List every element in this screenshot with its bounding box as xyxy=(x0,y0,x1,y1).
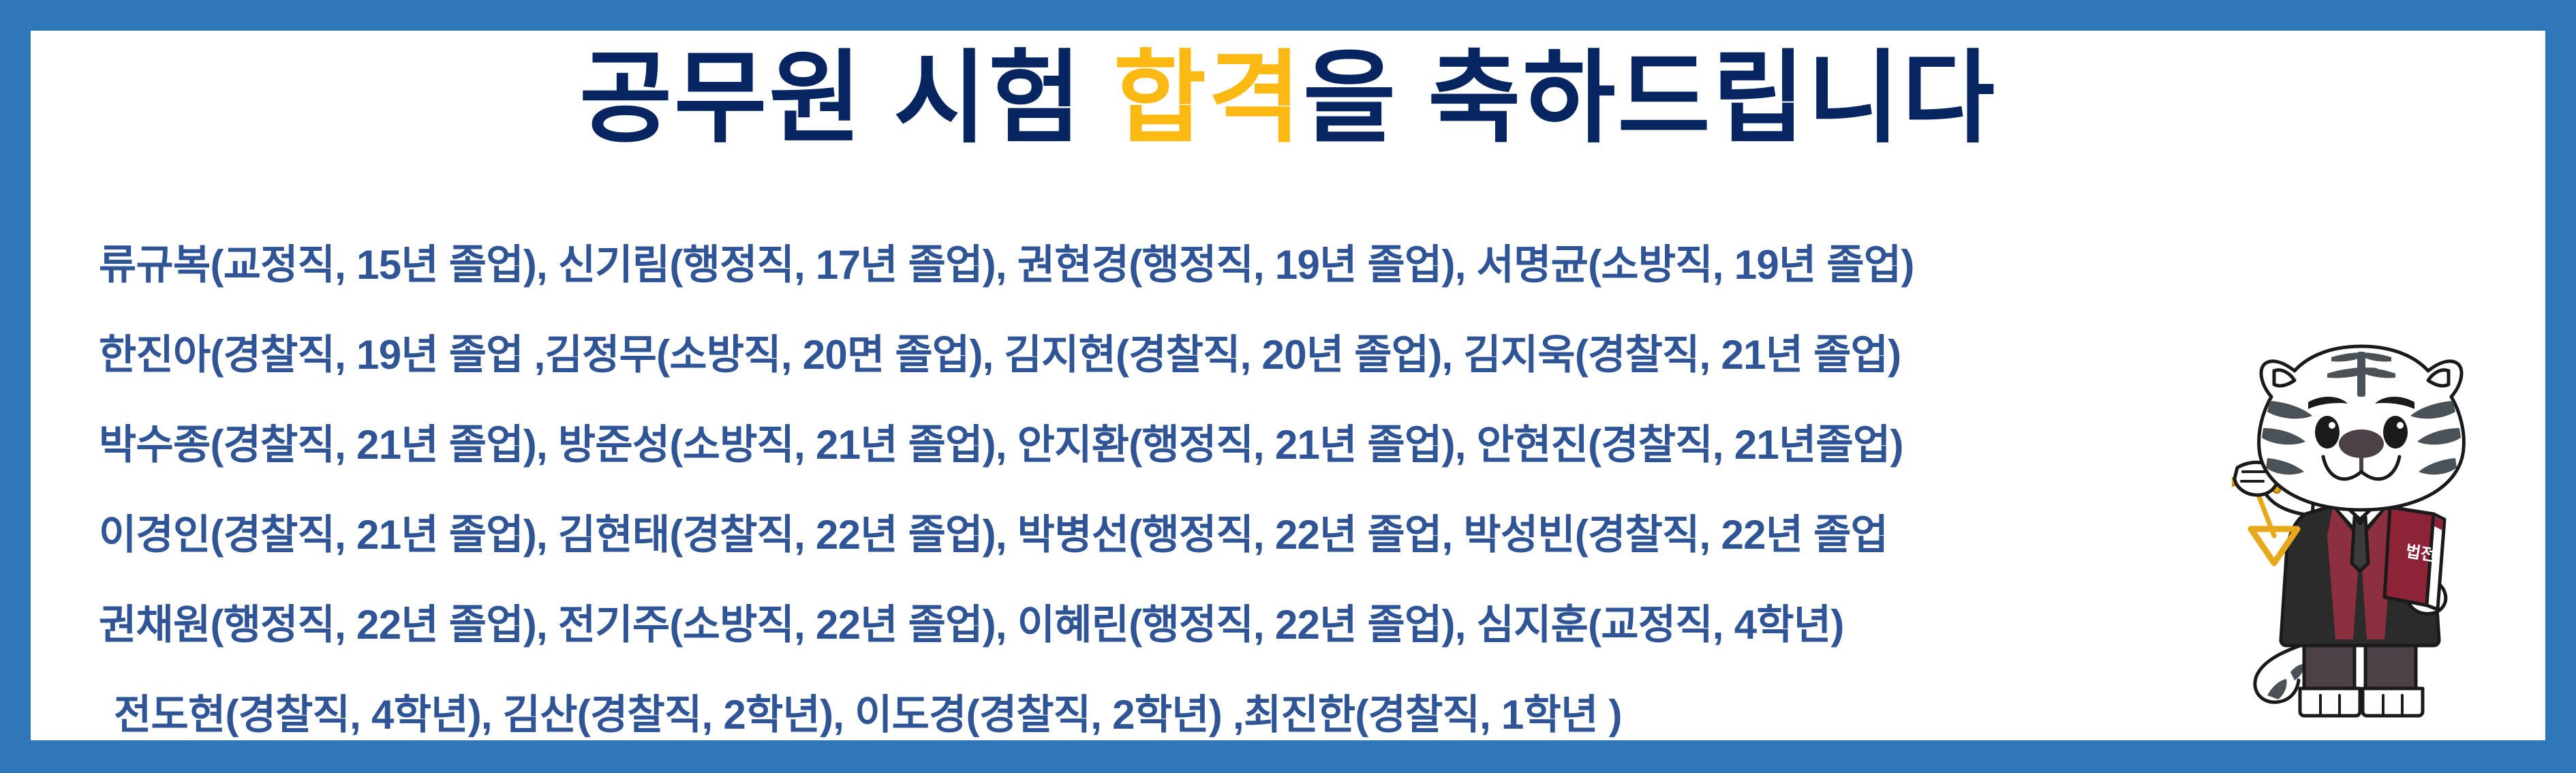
tiger-mascot-illustration: 법전 xyxy=(2232,331,2525,740)
banner-inner-panel: 공무원 시험 합격을 축하드립니다 류규복(교정직, 15년 졸업), 신기림(… xyxy=(31,31,2545,740)
congratulations-banner: 공무원 시험 합격을 축하드립니다 류규복(교정직, 15년 졸업), 신기림(… xyxy=(0,0,2576,773)
tiger-mascot-icon: 법전 xyxy=(2232,331,2525,740)
title-segment-prefix: 공무원 시험 xyxy=(579,42,1114,155)
roster-line: 이경인(경찰직, 21년 졸업), 김현태(경찰직, 22년 졸업), 박병선(… xyxy=(99,490,2498,580)
roster-line: 한진아(경찰직, 19년 졸업 ,김정무(소방직, 20면 졸업), 김지현(경… xyxy=(99,310,2498,400)
title-segment-accent: 합격 xyxy=(1114,42,1303,155)
title-segment-suffix: 을 축하드립니다 xyxy=(1303,42,1997,155)
roster-line: 전도현(경찰직, 4학년), 김산(경찰직, 2학년), 이도경(경찰직, 2학… xyxy=(99,670,2498,740)
roster-line: 권채원(행정직, 22년 졸업), 전기주(소방직, 22년 졸업), 이혜린(… xyxy=(99,580,2498,670)
graduate-roster: 류규복(교정직, 15년 졸업), 신기림(행정직, 17년 졸업), 권현경(… xyxy=(31,220,2545,740)
roster-line: 박수종(경찰직, 21년 졸업), 방준성(소방직, 21년 졸업), 안지환(… xyxy=(99,400,2498,490)
roster-line: 류규복(교정직, 15년 졸업), 신기림(행정직, 17년 졸업), 권현경(… xyxy=(99,220,2498,310)
page-title: 공무원 시험 합격을 축하드립니다 xyxy=(31,37,2545,161)
